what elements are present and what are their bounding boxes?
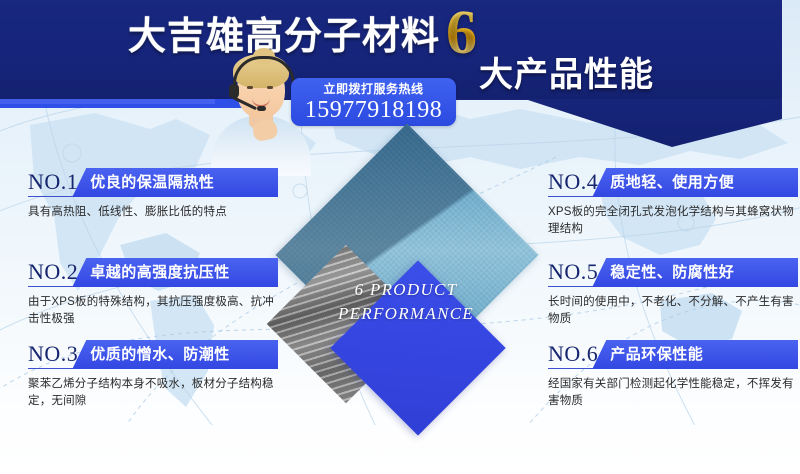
feature-5-description: 长时间的使用中，不老化、不分解、不产生有害物质 <box>548 294 798 328</box>
feature-3-header: NO.3 优质的憎水、防潮性 <box>28 340 278 369</box>
feature-2-description: 由于XPS板的特殊结构，其抗压强度极高、抗冲击性极强 <box>28 294 278 328</box>
feature-item-3: NO.3 优质的憎水、防潮性 聚苯乙烯分子结构本身不吸水，板材分子结构稳定，无间… <box>28 340 278 410</box>
feature-1-title: 优良的保温隔热性 <box>72 168 278 197</box>
feature-2-title: 卓越的高强度抗压性 <box>72 258 278 287</box>
feature-6-header: NO.6 产品环保性能 <box>548 340 798 369</box>
feature-item-1: NO.1 优良的保温隔热性 具有高热阻、低线性、膨胀比低的特点 <box>28 168 278 221</box>
feature-2-header: NO.2 卓越的高强度抗压性 <box>28 258 278 287</box>
feature-4-description: XPS板的完全闭孔式发泡化学结构与其蜂窝状物理结构 <box>548 204 798 238</box>
feature-6-title: 产品环保性能 <box>592 340 798 369</box>
feature-3-description: 聚苯乙烯分子结构本身不吸水，板材分子结构稳定，无间隙 <box>28 376 278 410</box>
feature-4-header: NO.4 质地轻、使用方便 <box>548 168 798 197</box>
feature-5-title: 稳定性、防腐性好 <box>592 258 798 287</box>
promo-banner: 大吉雄高分子材料 6 大产品性能 立即拨打服务热线 15977918198 6 … <box>0 0 800 474</box>
feature-6-description: 经国家有关部门检测起化学性能稳定，不挥发有害物质 <box>548 376 798 410</box>
feature-item-5: NO.5 稳定性、防腐性好 长时间的使用中，不老化、不分解、不产生有害物质 <box>548 258 798 328</box>
feature-4-title: 质地轻、使用方便 <box>592 168 798 197</box>
feature-item-6: NO.6 产品环保性能 经国家有关部门检测起化学性能稳定，不挥发有害物质 <box>548 340 798 410</box>
feature-list: NO.1 优良的保温隔热性 具有高热阻、低线性、膨胀比低的特点 NO.2 卓越的… <box>0 0 800 474</box>
feature-3-title: 优质的憎水、防潮性 <box>72 340 278 369</box>
feature-5-header: NO.5 稳定性、防腐性好 <box>548 258 798 287</box>
feature-1-description: 具有高热阻、低线性、膨胀比低的特点 <box>28 204 278 221</box>
feature-item-4: NO.4 质地轻、使用方便 XPS板的完全闭孔式发泡化学结构与其蜂窝状物理结构 <box>548 168 798 238</box>
feature-1-header: NO.1 优良的保温隔热性 <box>28 168 278 197</box>
feature-item-2: NO.2 卓越的高强度抗压性 由于XPS板的特殊结构，其抗压强度极高、抗冲击性极… <box>28 258 278 328</box>
